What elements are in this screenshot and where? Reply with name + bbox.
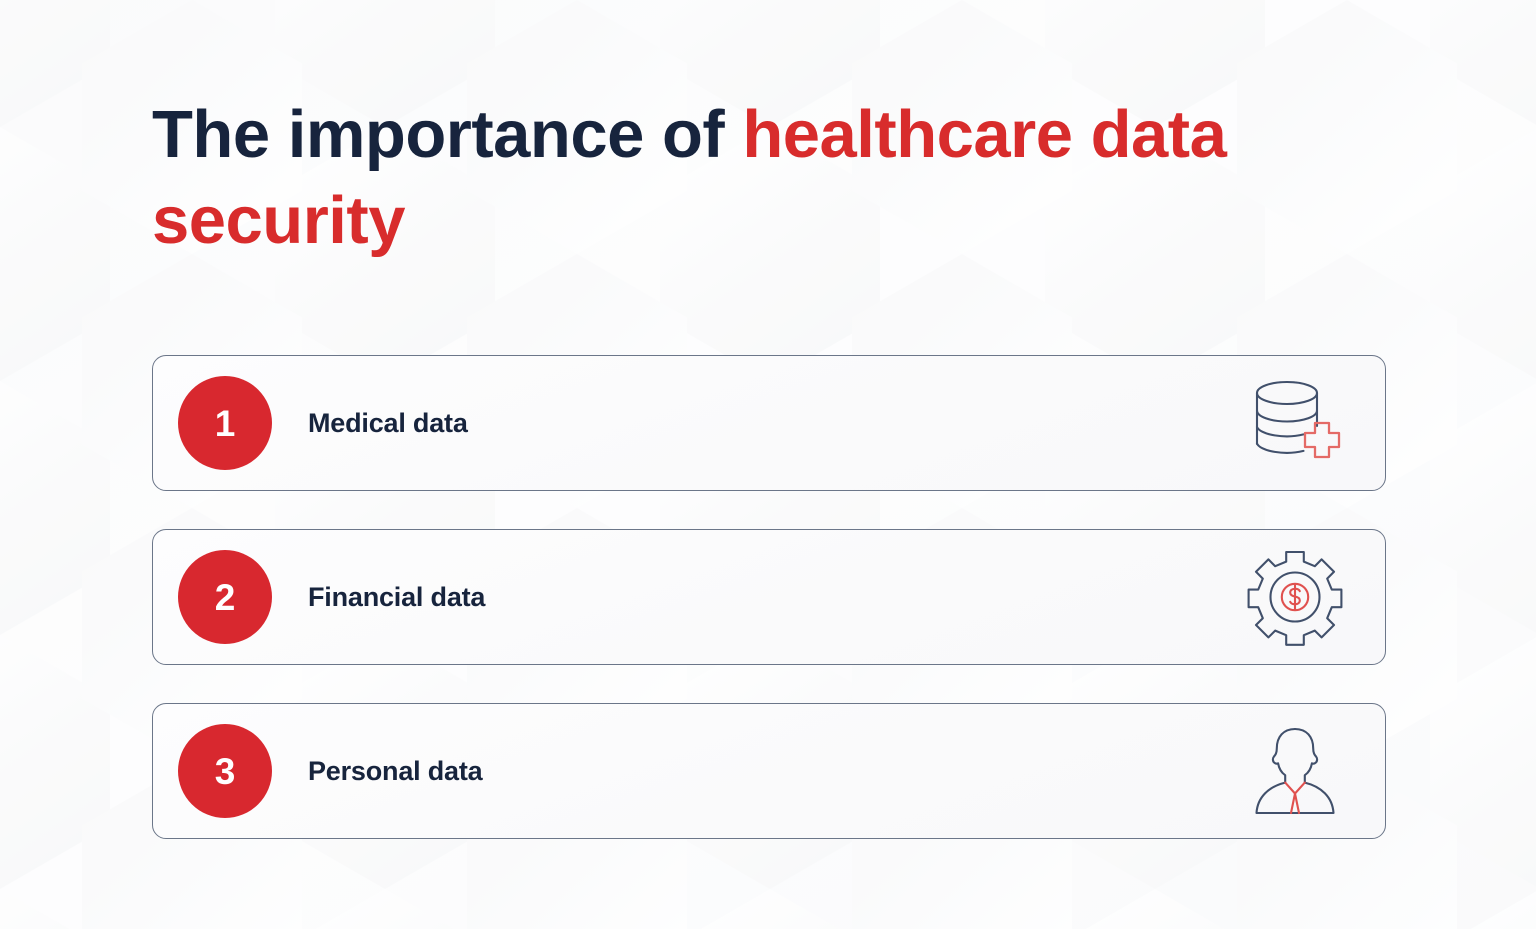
page-title: The importance of healthcare data securi… [152,92,1392,265]
list-item[interactable]: 2 Financial data [152,529,1386,665]
step-number-badge: 3 [178,724,272,818]
step-number-badge: 1 [178,376,272,470]
slide-canvas: The importance of healthcare data securi… [0,0,1536,929]
title-block: The importance of healthcare data securi… [152,92,1392,265]
gear-dollar-icon [1243,545,1347,649]
step-number-badge: 2 [178,550,272,644]
data-category-list: 1 Medical data 2 Financial data [152,355,1386,839]
list-item-label: Medical data [308,408,1243,439]
list-item[interactable]: 1 Medical data [152,355,1386,491]
list-item[interactable]: 3 Personal data [152,703,1386,839]
title-part-dark: The importance of [152,97,742,172]
list-item-label: Financial data [308,582,1243,613]
database-medical-cross-icon [1243,371,1347,475]
list-item-label: Personal data [308,756,1243,787]
person-silhouette-icon [1243,719,1347,823]
